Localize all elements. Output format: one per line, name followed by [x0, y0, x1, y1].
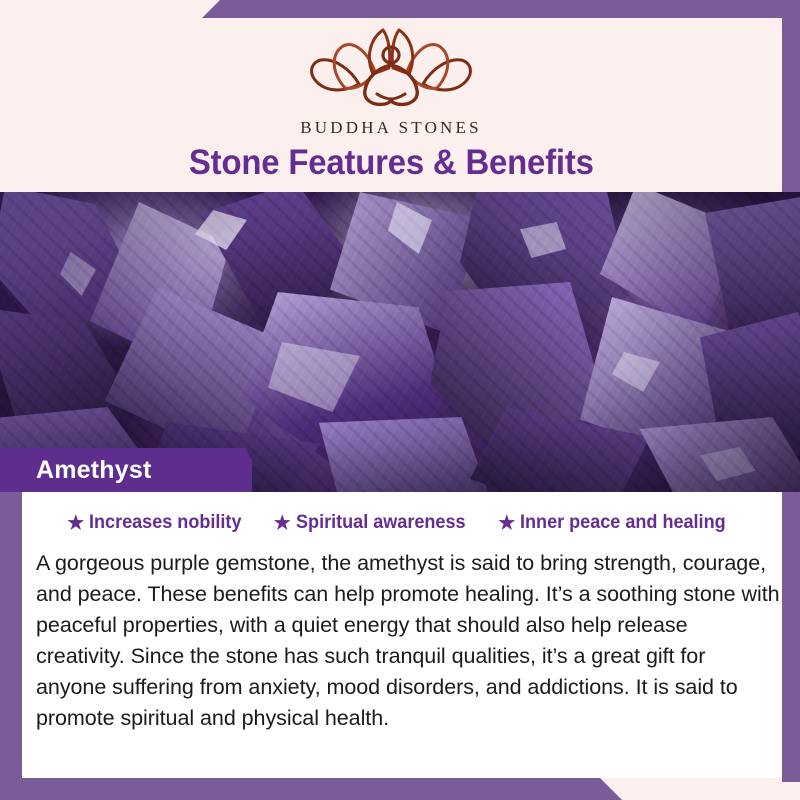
- benefit-item-3: ★ Inner peace and healing: [498, 512, 737, 534]
- page-title-wrap: Stone Features & Benefits: [0, 143, 782, 183]
- benefit-label: Spiritual awareness: [296, 512, 466, 534]
- benefit-item-2: ★ Spiritual awareness: [274, 512, 475, 534]
- stone-name: Amethyst: [36, 456, 152, 485]
- stone-name-banner: Amethyst: [0, 448, 252, 492]
- infographic-page: BUDDHA STONES Stone Features & Benefits: [0, 0, 800, 800]
- benefit-item-1: ★ Increases nobility: [67, 512, 250, 534]
- photo-vignette: [0, 192, 800, 492]
- benefit-label: Increases nobility: [89, 512, 241, 534]
- page-title: Stone Features & Benefits: [189, 143, 594, 183]
- benefit-label: Inner peace and healing: [520, 512, 726, 534]
- content-panel: ★ Increases nobility ★ Spiritual awarene…: [22, 492, 782, 778]
- stone-description: A gorgeous purple gemstone, the amethyst…: [36, 548, 780, 734]
- benefits-row: ★ Increases nobility ★ Spiritual awarene…: [22, 512, 782, 534]
- frame-left-bar: [0, 492, 22, 800]
- lotus-meditation-logo-icon: [301, 22, 481, 114]
- brand-name: BUDDHA STONES: [300, 118, 482, 138]
- star-icon: ★: [67, 514, 84, 533]
- frame-top-bar: [0, 0, 800, 18]
- star-icon: ★: [274, 514, 291, 533]
- amethyst-hero-image: [0, 192, 800, 492]
- frame-bottom-bar: [0, 778, 800, 800]
- star-icon: ★: [498, 514, 515, 533]
- brand-logo-block: BUDDHA STONES: [0, 22, 782, 138]
